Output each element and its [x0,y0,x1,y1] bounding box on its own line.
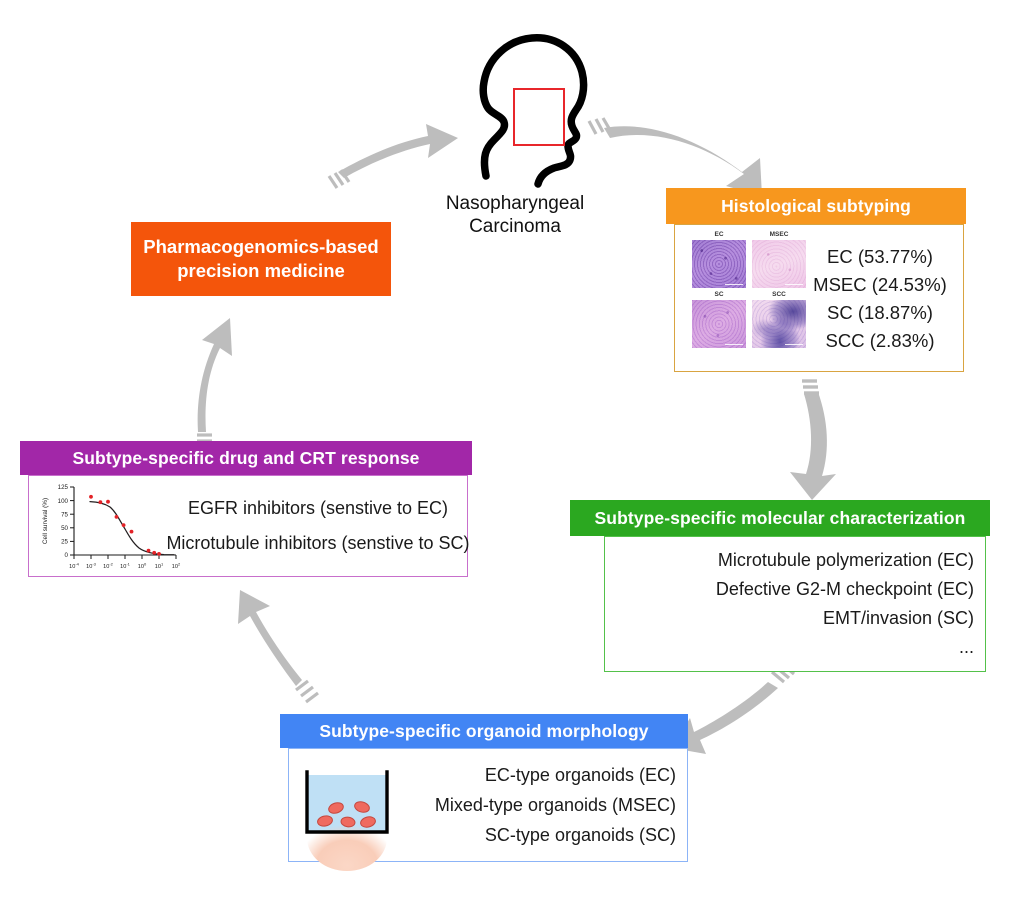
histological-subtyping-header[interactable]: Histological subtyping [666,188,966,224]
histology-image-sc [692,300,746,348]
svg-text:100: 100 [58,498,69,505]
svg-text:75: 75 [61,511,68,518]
svg-text:25: 25 [61,539,68,546]
chart-x-ticklabels: 10-4 10-3 10-2 10-1 100 101 102 [69,561,181,570]
histology-thumbnail: EC [692,232,746,288]
svg-text:10-1: 10-1 [120,561,131,570]
organoid-culture-dish-icon [300,766,396,846]
drug-response-title: Subtype-specific drug and CRT response [72,448,419,469]
molecular-characterization-items: Microtubule polymerization (EC) Defectiv… [616,540,974,668]
figure-canvas: Nasopharyngeal Carcinoma Pharmacogenomic… [0,0,1024,899]
molecular-item: Microtubule polymerization (EC) [718,550,974,571]
organoid-item: SC-type organoids (SC) [485,825,676,846]
molecular-characterization-title: Subtype-specific molecular characterizat… [595,508,966,529]
pharmacogenomics-title-line1: Pharmacogenomics-based [143,235,378,259]
chart-ylabel: Cell survival (%) [42,498,49,544]
histology-thumbnail-label: SCC [772,292,786,299]
chart-fit-curve [90,502,174,555]
histological-item: SC (18.87%) [827,302,933,324]
chart-y-ticklabels: 0 25 50 75 100 125 [58,484,69,559]
arrow-organoid-to-drug [238,590,318,702]
svg-text:100: 100 [138,561,147,570]
drug-response-item: EGFR inhibitors (senstive to EC) [188,498,448,519]
organoid-item: EC-type organoids (EC) [485,765,676,786]
chart-x-ticks [74,555,176,559]
roi-rectangle [513,88,565,146]
histology-thumbnail: SC [692,292,746,348]
histology-image-scc [752,300,806,348]
histology-thumbnail-grid: EC MSEC SC SCC [692,232,806,348]
molecular-characterization-header[interactable]: Subtype-specific molecular characterizat… [570,500,990,536]
molecular-item: Defective G2-M checkpoint (EC) [716,579,974,600]
histology-thumbnail-label: EC [714,232,723,239]
svg-text:10-2: 10-2 [103,561,114,570]
svg-text:0: 0 [65,552,69,559]
dose-response-chart: 0 25 50 75 100 125 Cell survival (%) 10-… [34,479,184,575]
histological-subtyping-title: Histological subtyping [721,196,911,217]
histology-thumbnail-label: MSEC [770,232,789,239]
histology-image-msec [752,240,806,288]
organoid-morphology-header[interactable]: Subtype-specific organoid morphology [280,714,688,748]
molecular-item-ellipsis: ... [959,637,974,658]
drug-response-items: EGFR inhibitors (senstive to EC) Microtu… [176,482,460,570]
drug-response-header[interactable]: Subtype-specific drug and CRT response [20,441,472,475]
arrow-molecular-to-organoid [672,664,794,754]
svg-text:10-3: 10-3 [86,561,97,570]
svg-text:125: 125 [58,484,69,491]
pharmacogenomics-box[interactable]: Pharmacogenomics-based precision medicin… [131,222,391,296]
organoid-item: Mixed-type organoids (MSEC) [435,795,676,816]
histology-thumbnail: SCC [752,292,806,348]
histology-thumbnail-label: SC [714,292,723,299]
pharmacogenomics-title-line2: precision medicine [177,259,345,283]
histological-item: MSEC (24.53%) [813,274,947,296]
arrow-head-to-histological [589,118,762,196]
svg-text:10-4: 10-4 [69,561,80,570]
histological-item: SCC (2.83%) [826,330,935,352]
organoid-morphology-items: EC-type organoids (EC) Mixed-type organo… [404,752,676,858]
svg-text:50: 50 [61,525,68,532]
histology-thumbnail: MSEC [752,232,806,288]
histological-item: EC (53.77%) [827,246,933,268]
histology-image-ec [692,240,746,288]
svg-text:101: 101 [155,561,164,570]
organoid-morphology-title: Subtype-specific organoid morphology [319,721,648,742]
molecular-item: EMT/invasion (SC) [823,608,974,629]
arrow-drug-to-pharmacogenomics [197,318,232,447]
chart-data-points [89,495,161,556]
chart-y-ticks [70,487,74,555]
histological-subtyping-items: EC (53.77%) MSEC (24.53%) SC (18.87%) SC… [806,232,954,366]
drug-response-item: Microtubule inhibitors (senstive to SC) [166,533,469,554]
arrow-histological-to-molecular [790,381,836,500]
